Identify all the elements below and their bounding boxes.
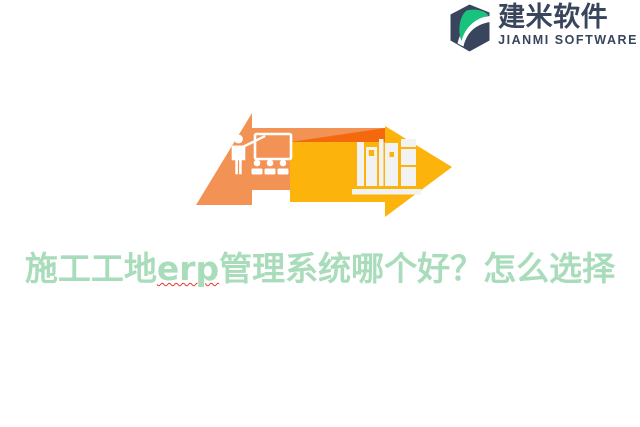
brand-logo: 建米软件 JIANMI SOFTWARE	[444, 2, 638, 56]
brand-name-cn: 建米软件	[498, 3, 638, 32]
page-headline: 施工工地erp管理系统哪个好？怎么选择	[0, 246, 640, 292]
brand-text-block: 建米软件 JIANMI SOFTWARE	[498, 2, 638, 48]
headline-part-before: 施工工地	[25, 249, 157, 288]
headline-part-after: 管理系统哪个好？怎么选择	[219, 249, 615, 288]
brand-name-en: JIANMI SOFTWARE	[498, 33, 638, 48]
bidirectional-arrows-illustration	[180, 95, 470, 230]
headline-spellchecked-term: erp	[157, 249, 219, 288]
jianmi-leaf-hexagon-logo-icon	[444, 2, 496, 54]
headline-text: 施工工地erp管理系统哪个好？怎么选择	[25, 246, 615, 292]
